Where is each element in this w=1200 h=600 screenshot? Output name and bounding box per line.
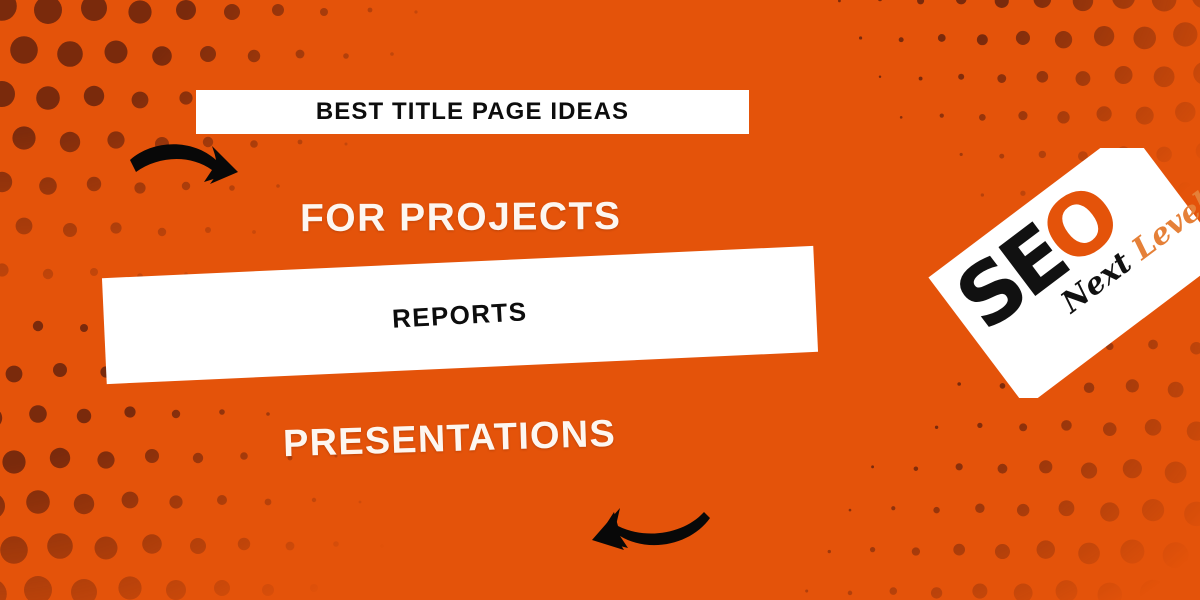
logo-tagline-level: Level	[1126, 186, 1200, 267]
title-banner-label: BEST TITLE PAGE IDEAS	[316, 98, 629, 126]
reports-banner: REPORTS	[102, 246, 818, 384]
presentations-heading: PRESENTATIONS	[282, 413, 616, 466]
poster-canvas: BEST TITLE PAGE IDEAS FOR PROJECTS REPOR…	[0, 0, 1200, 600]
curved-arrow-right-down-icon	[128, 134, 258, 206]
curved-arrow-left-up-icon	[580, 496, 712, 566]
for-projects-heading: FOR PROJECTS	[300, 195, 622, 241]
reports-banner-label: REPORTS	[391, 296, 528, 335]
title-banner: BEST TITLE PAGE IDEAS	[196, 90, 749, 134]
seo-next-level-logo: SEO Next Level	[928, 148, 1200, 398]
logo-card-background: SEO Next Level	[928, 148, 1200, 398]
